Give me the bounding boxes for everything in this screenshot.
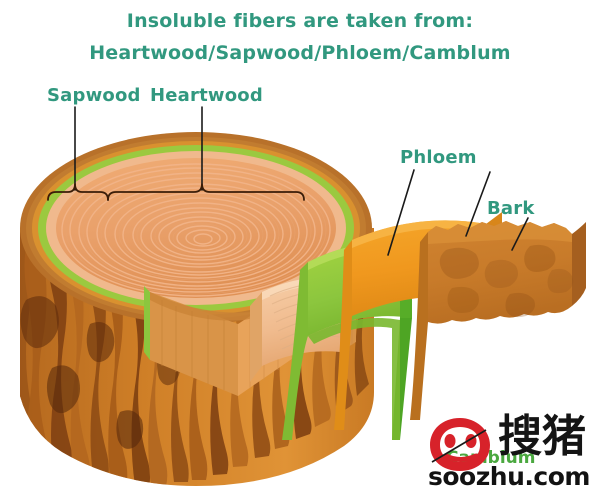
watermark-brand-cn: 搜猪 (498, 414, 586, 460)
label-bark: Bark (487, 198, 535, 219)
stump-cambium-edge-left (144, 286, 150, 360)
label-sapwood: Sapwood (47, 85, 141, 106)
bark-slab (410, 221, 586, 420)
watermark-domain: soozhu.com (428, 462, 590, 491)
diagram-canvas: Insoluble fibers are taken from: Heartwo… (0, 0, 600, 493)
watermark: Camblum 搜猪 soozhu.com (424, 410, 600, 493)
label-heartwood: Heartwood (150, 85, 263, 106)
title-line-2: Heartwood/Sapwood/Phloem/Camblum (0, 42, 600, 64)
label-phloem: Phloem (400, 147, 477, 168)
title-line-1: Insoluble fibers are taken from: (0, 10, 600, 32)
bark-slab-right-edge (572, 222, 586, 306)
